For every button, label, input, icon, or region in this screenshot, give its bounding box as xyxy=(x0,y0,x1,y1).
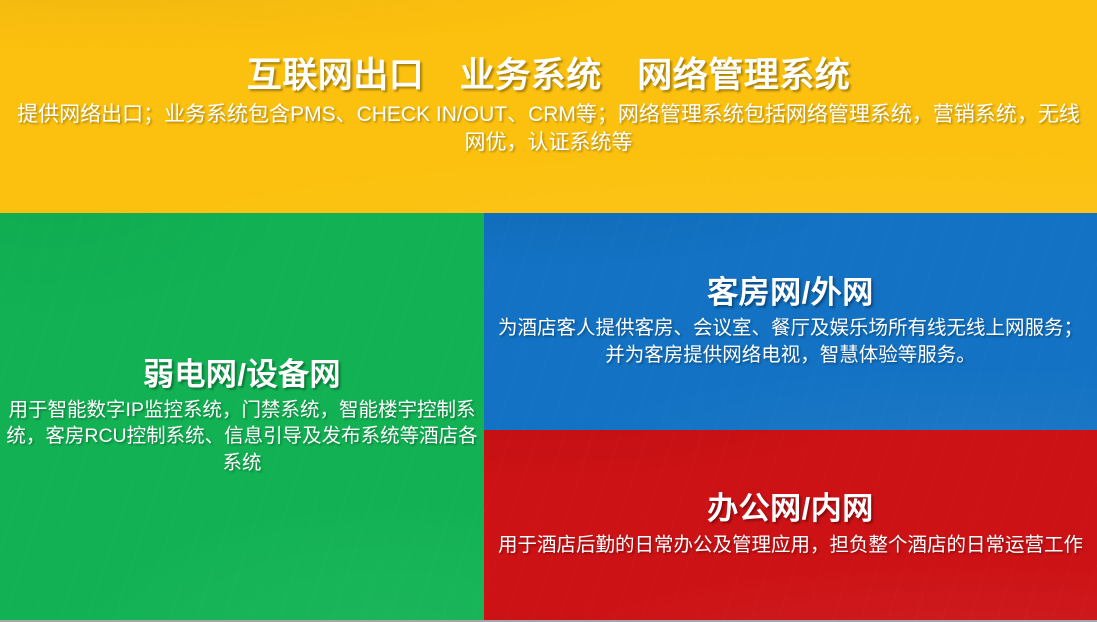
weak-current-network-content: 弱电网/设备网 用于智能数字IP监控系统，门禁系统，智能楼宇控制系统，客房RCU… xyxy=(0,357,484,476)
office-network-panel: 办公网/内网 用于酒店后勤的日常办公及管理应用，担负整个酒店的日常运营工作 xyxy=(484,430,1097,620)
weak-current-network-description: 用于智能数字IP监控系统，门禁系统，智能楼宇控制系统，客房RCU控制系统、信息引… xyxy=(0,397,484,477)
internet-exit-heading: 互联网出口 业务系统 网络管理系统 xyxy=(0,55,1097,96)
office-network-description: 用于酒店后勤的日常办公及管理应用，担负整个酒店的日常运营工作 xyxy=(484,532,1097,559)
guest-room-network-heading: 客房网/外网 xyxy=(484,275,1097,312)
weak-current-network-panel: 弱电网/设备网 用于智能数字IP监控系统，门禁系统，智能楼宇控制系统，客房RCU… xyxy=(0,213,484,620)
weak-current-network-heading: 弱电网/设备网 xyxy=(0,357,484,394)
guest-room-network-panel: 客房网/外网 为酒店客人提供客房、会议室、餐厅及娱乐场所有线无线上网服务；并为客… xyxy=(484,213,1097,430)
guest-room-network-content: 客房网/外网 为酒店客人提供客房、会议室、餐厅及娱乐场所有线无线上网服务；并为客… xyxy=(484,275,1097,369)
internet-exit-content: 互联网出口 业务系统 网络管理系统 提供网络出口；业务系统包含PMS、CHECK… xyxy=(0,55,1097,157)
office-network-heading: 办公网/内网 xyxy=(484,491,1097,528)
slide-canvas: 互联网出口 业务系统 网络管理系统 提供网络出口；业务系统包含PMS、CHECK… xyxy=(0,0,1097,622)
office-network-content: 办公网/内网 用于酒店后勤的日常办公及管理应用，担负整个酒店的日常运营工作 xyxy=(484,491,1097,558)
internet-exit-panel: 互联网出口 业务系统 网络管理系统 提供网络出口；业务系统包含PMS、CHECK… xyxy=(0,0,1097,213)
guest-room-network-description: 为酒店客人提供客房、会议室、餐厅及娱乐场所有线无线上网服务；并为客房提供网络电视… xyxy=(484,315,1097,368)
internet-exit-description: 提供网络出口；业务系统包含PMS、CHECK IN/OUT、CRM等；网络管理系… xyxy=(0,101,1097,158)
